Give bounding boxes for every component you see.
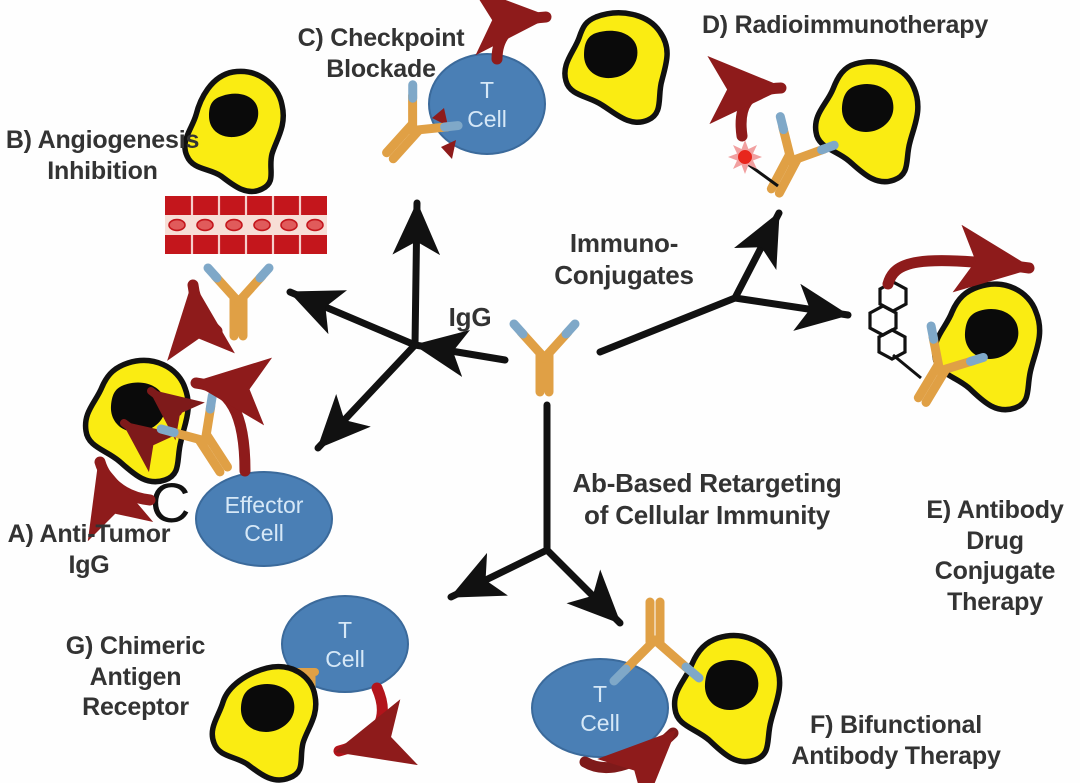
central-igg-antibody xyxy=(514,324,575,392)
t-cell-f xyxy=(532,659,668,757)
arrow-to-antitumor-igg xyxy=(318,345,415,448)
label-section-d: D) Radioimmunotherapy xyxy=(690,10,1000,41)
radioisotope-icon xyxy=(728,140,762,174)
arrow-igg-spine xyxy=(415,345,505,360)
label-section-c: C) Checkpoint Blockade xyxy=(283,23,479,84)
section-g-car xyxy=(212,596,408,780)
section-e-adc xyxy=(870,261,1040,416)
effector-cell-a xyxy=(196,472,332,566)
blood-vessel xyxy=(165,196,327,254)
t-cell-g-label-1: T xyxy=(338,617,352,643)
t-cell-g-label-2: Cell xyxy=(325,646,365,672)
bifunctional-antibody xyxy=(614,602,699,681)
arrow-to-car xyxy=(451,550,547,597)
action-arrow-car xyxy=(339,688,382,751)
arrow-ic-spine xyxy=(600,298,735,352)
label-section-f: F) Bifunctional Antibody Therapy xyxy=(786,710,1006,771)
action-arrow-adc xyxy=(888,261,1029,284)
effector-cell-label-2: Cell xyxy=(244,520,284,546)
label-section-g: G) Chimeric Antigen Receptor xyxy=(48,631,223,723)
diagram-canvas: C xyxy=(0,0,1080,783)
t-cell-f-label-2: Cell xyxy=(580,710,620,736)
arrow-to-checkpoint xyxy=(415,203,417,345)
arrow-to-angiogenesis xyxy=(290,292,415,345)
arrow-to-radioimmunotherapy xyxy=(735,213,779,298)
section-f-bifunctional xyxy=(532,602,780,768)
t-cell-c-label-1: T xyxy=(480,77,494,103)
action-arrow-angiogenesis xyxy=(193,285,217,331)
action-arrow-checkpoint xyxy=(497,17,546,59)
label-hub-igg: IgG xyxy=(434,302,506,334)
effector-cell-label-1: Effector xyxy=(225,492,304,518)
t-cell-f-label-1: T xyxy=(593,681,607,707)
arrow-to-bifunctional xyxy=(547,550,620,623)
label-section-e: E) Antibody Drug Conjugate Therapy xyxy=(915,495,1075,617)
label-section-b: B) Angiogenesis Inhibition xyxy=(0,125,205,186)
action-arrow-radio xyxy=(741,88,781,136)
label-hub-retargeting: Ab-Based Retargeting of Cellular Immunit… xyxy=(562,468,852,531)
arrow-to-adc xyxy=(735,298,848,315)
drug-linker xyxy=(893,355,921,378)
t-cell-c-label-2: Cell xyxy=(467,106,507,132)
label-hub-immunoconjugates: Immuno- Conjugates xyxy=(524,228,724,291)
label-section-a: A) Anti-Tumor IgG xyxy=(0,519,178,580)
drug-molecule-icon xyxy=(870,282,906,359)
